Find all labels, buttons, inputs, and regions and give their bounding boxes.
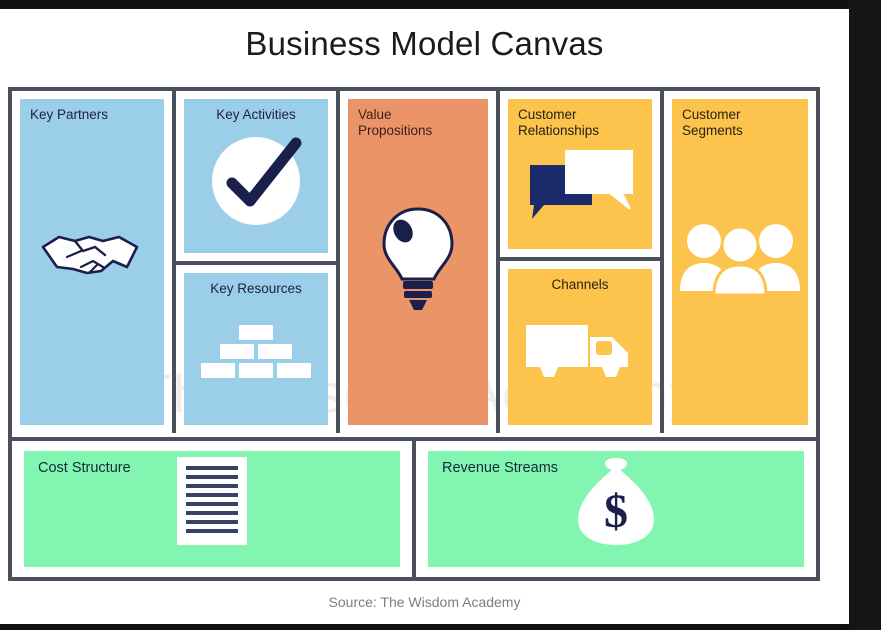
svg-text:$: $ [604, 485, 628, 538]
panel-value-propositions[interactable]: Value Propositions [348, 99, 488, 425]
key-activities-label: Key Activities [194, 107, 318, 123]
cell-key-activities[interactable]: Key Activities [176, 91, 336, 265]
panel-customer-segments[interactable]: Customer Segments [672, 99, 808, 425]
panel-key-resources[interactable]: Key Resources [184, 273, 328, 425]
canvas-column-customer-segments: Customer Segments [664, 91, 816, 433]
handshake-icon [20, 217, 164, 289]
cell-cost-structure[interactable]: Cost Structure [12, 441, 416, 577]
cell-value-propositions[interactable]: Value Propositions [340, 91, 496, 433]
key-partners-label: Key Partners [30, 107, 154, 123]
cell-channels[interactable]: Channels [500, 261, 660, 433]
page-title: Business Model Canvas [0, 25, 849, 63]
canvas-column-value-propositions: Value Propositions [340, 91, 500, 433]
cell-customer-relationships[interactable]: Customer Relationships [500, 91, 660, 261]
people-group-icon [672, 219, 808, 295]
canvas-bottom-grid: Cost Structure [12, 437, 816, 577]
customer-relationships-label: Customer Relationships [518, 107, 642, 139]
revenue-streams-label: Revenue Streams [442, 460, 790, 476]
cell-key-partners[interactable]: Key Partners [12, 91, 172, 433]
bricks-stack-icon [184, 323, 328, 389]
cell-customer-segments[interactable]: Customer Segments [664, 91, 816, 433]
value-propositions-label: Value Propositions [358, 107, 478, 139]
checkmark-circle-icon [184, 129, 328, 233]
customer-segments-label: Customer Segments [682, 107, 798, 139]
canvas-column-relationships-channels: Customer Relationships Channels [500, 91, 664, 433]
business-model-canvas: The Wisdom Academy Key Partners [8, 87, 820, 581]
cell-key-resources[interactable]: Key Resources [176, 265, 336, 433]
panel-key-activities[interactable]: Key Activities [184, 99, 328, 253]
channels-label: Channels [518, 277, 642, 293]
page-area: Business Model Canvas The Wisdom Academy… [0, 9, 849, 630]
panel-channels[interactable]: Channels [508, 269, 652, 425]
right-gutter [849, 0, 881, 630]
speech-bubbles-icon [508, 147, 652, 227]
top-bar-strip [0, 0, 881, 9]
cell-revenue-streams[interactable]: Revenue Streams $ [416, 441, 816, 577]
key-resources-label: Key Resources [194, 281, 318, 297]
canvas-column-key-activities-resources: Key Activities Key Resources [176, 91, 340, 433]
delivery-truck-icon [508, 315, 652, 385]
source-caption: Source: The Wisdom Academy [0, 594, 849, 610]
panel-cost-structure[interactable]: Cost Structure [24, 451, 400, 567]
lightbulb-icon [348, 203, 488, 319]
canvas-top-grid: Key Partners [12, 91, 816, 433]
canvas-column-key-partners: Key Partners [12, 91, 176, 433]
panel-key-partners[interactable]: Key Partners [20, 99, 164, 425]
bottom-strip [0, 624, 849, 630]
panel-customer-relationships[interactable]: Customer Relationships [508, 99, 652, 249]
cost-structure-label: Cost Structure [38, 460, 386, 476]
panel-revenue-streams[interactable]: Revenue Streams $ [428, 451, 804, 567]
